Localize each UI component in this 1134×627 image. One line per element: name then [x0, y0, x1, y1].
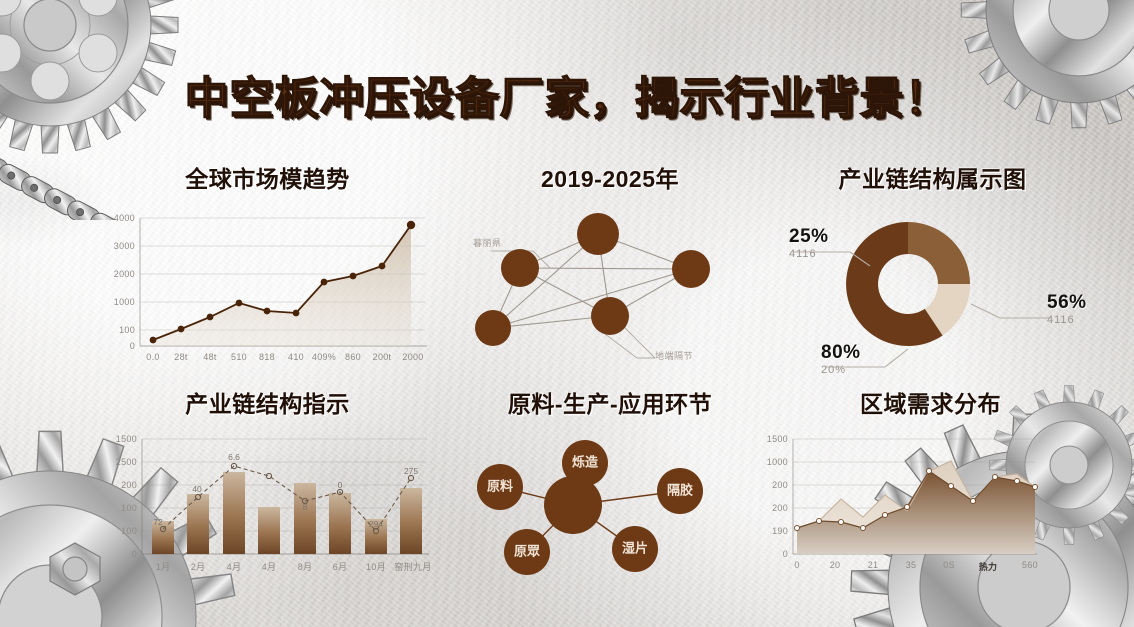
x-tick-label: 1月	[156, 560, 171, 573]
x-tick-label: 窑刑九月	[394, 560, 431, 573]
area-fill	[153, 225, 411, 346]
panel-title-regional-demand: 区域需求分布	[771, 385, 1090, 419]
x-tick-label: 10月	[366, 560, 386, 573]
panel-title-raw-production-application: 原料-生产-应用环节	[455, 385, 765, 419]
panel-title-network-2019-2025: 2019-2025年	[455, 160, 765, 194]
x-tick-label: 410	[288, 352, 304, 362]
chart-regional-demand: 1500 1000 200 200 190 0 0 20 21 35 0S 热力…	[745, 429, 1090, 579]
x-tick-label: 200t	[373, 352, 392, 362]
overlay-point-label: 8	[303, 502, 308, 512]
panel-network-2019-2025: 2019-2025年	[455, 160, 765, 360]
y-tick-label: 100	[95, 325, 135, 335]
donut-callout-value: 56%	[1047, 292, 1087, 314]
panel-industry-chain-donut: 产业链结构属示图 25% 4116 56%	[775, 160, 1090, 365]
spoke-node-label: 隔胶	[667, 483, 693, 499]
chart-raw-production-application: 原料 烁造 隔胶 湿片 原眾	[455, 431, 765, 579]
x-tick-label: 35	[906, 560, 917, 570]
x-tick-label: 0	[794, 560, 799, 570]
donut-segments[interactable]	[846, 222, 970, 346]
x-tick-label: 2月	[191, 560, 206, 573]
y-tick-label: 1500	[95, 434, 137, 444]
x-tick-label: 2000	[402, 352, 423, 362]
y-tick-label: 1000	[745, 457, 788, 467]
spoke-node-manufacture[interactable]: 烁造	[562, 440, 608, 486]
spoke-node-label: 原料	[487, 479, 513, 495]
y-tick-label: 190	[745, 526, 788, 536]
x-tick-label: 8月	[298, 560, 313, 573]
spoke-node-raw-material[interactable]: 原料	[477, 464, 523, 510]
panel-title-global-market-trend: 全球市场模趋势	[95, 160, 440, 194]
network-nodes[interactable]	[475, 213, 710, 346]
spoke-node-origin[interactable]: 原眾	[504, 529, 550, 575]
x-tick-label: 0.0	[146, 352, 159, 362]
spoke-node-insulation[interactable]: 隔胶	[657, 468, 703, 514]
donut-callout-value: 80%	[821, 342, 861, 364]
x-tick-label: 560	[1022, 560, 1038, 570]
y-tick-label: 100	[95, 503, 137, 513]
y-tick-label: 4000	[95, 213, 135, 223]
network-annotation-label: 地端隔节	[655, 349, 693, 362]
y-tick-label: 0	[745, 549, 788, 559]
y-tick-label: 2000	[95, 269, 135, 279]
spoke-node-wet-sheet[interactable]: 湿片	[612, 526, 658, 572]
donut-callout-25: 25% 4116	[789, 226, 829, 260]
x-tick-label: 4月	[227, 560, 242, 573]
x-tick-label: 510	[231, 352, 247, 362]
overlay-point-label: 6.6	[228, 452, 240, 462]
panel-global-market-trend: 全球市场模趋势	[95, 160, 440, 360]
x-tick-label: 21	[868, 560, 879, 570]
network-annotation-label: 暮丽県	[473, 236, 502, 249]
x-tick-label: 热力	[979, 560, 998, 573]
chart-industry-chain-donut: 25% 4116 56% 4116 80% 20%	[775, 204, 1090, 374]
x-tick-label: 818	[259, 352, 275, 362]
overlay-point-label: 40	[192, 484, 201, 494]
donut-callout-56: 56% 4116	[1047, 292, 1087, 326]
y-tick-label: 200	[745, 480, 788, 490]
overlay-point-label: 294	[369, 519, 383, 529]
y-tick-label: 100	[95, 526, 137, 536]
panel-industry-chain-bars: 产业链结构指示	[95, 385, 440, 565]
x-tick-label: 860	[345, 352, 361, 362]
panel-title-industry-chain-donut: 产业链结构属示图	[775, 160, 1090, 194]
y-tick-label: 0	[95, 549, 137, 559]
overlay-point-label: 0	[338, 480, 343, 490]
panel-title-industry-chain-bars: 产业链结构指示	[95, 385, 440, 419]
x-tick-label: 6月	[333, 560, 348, 573]
x-tick-label: 20	[830, 560, 841, 570]
donut-callout-value: 25%	[789, 226, 829, 248]
spoke-node-label: 烁造	[572, 455, 599, 471]
y-tick-label: 1000	[95, 297, 135, 307]
donut-callout-sublabel: 4116	[789, 248, 829, 260]
y-tick-label: 3000	[95, 241, 135, 251]
chart-global-market-trend: 4000 3000 2000 1000 100 0 0.0 28t 48t 51…	[95, 206, 440, 371]
spoke-node-label: 湿片	[622, 541, 648, 557]
x-tick-label: 28t	[174, 352, 187, 362]
x-tick-label: 409%	[312, 352, 336, 362]
chart-network-2019-2025: 暮丽県 地端隔节	[455, 206, 765, 371]
x-tick-label: 48t	[203, 352, 216, 362]
panel-raw-production-application: 原料-生产-应用环节 原料 烁造 隔胶	[455, 385, 765, 565]
overlay-point-label: 72	[153, 517, 162, 527]
panel-regional-demand: 区域需求分布	[745, 385, 1090, 565]
chart-industry-chain-bars: 72 40 6.6 8 0 294 275 1500 2500 200 100 …	[95, 429, 440, 579]
chart-gridlines	[142, 439, 427, 531]
y-tick-label: 2500	[95, 457, 137, 467]
donut-callout-sublabel: 20%	[821, 364, 861, 376]
y-tick-label: 200	[745, 503, 788, 513]
x-tick-label: 0S	[943, 560, 955, 570]
spoke-node-label: 原眾	[514, 545, 540, 560]
page-title: 中空板冲压设备厂家，揭示行业背景！	[0, 62, 1134, 126]
donut-callout-80: 80% 20%	[821, 342, 861, 376]
y-tick-label: 1500	[745, 434, 788, 444]
hub-node[interactable]	[544, 476, 602, 534]
y-tick-label: 200	[95, 480, 137, 490]
donut-callout-sublabel: 4116	[1047, 314, 1087, 326]
overlay-point-label: 275	[404, 466, 418, 476]
x-tick-label: 4月	[262, 560, 277, 573]
y-tick-label: 0	[95, 341, 135, 351]
